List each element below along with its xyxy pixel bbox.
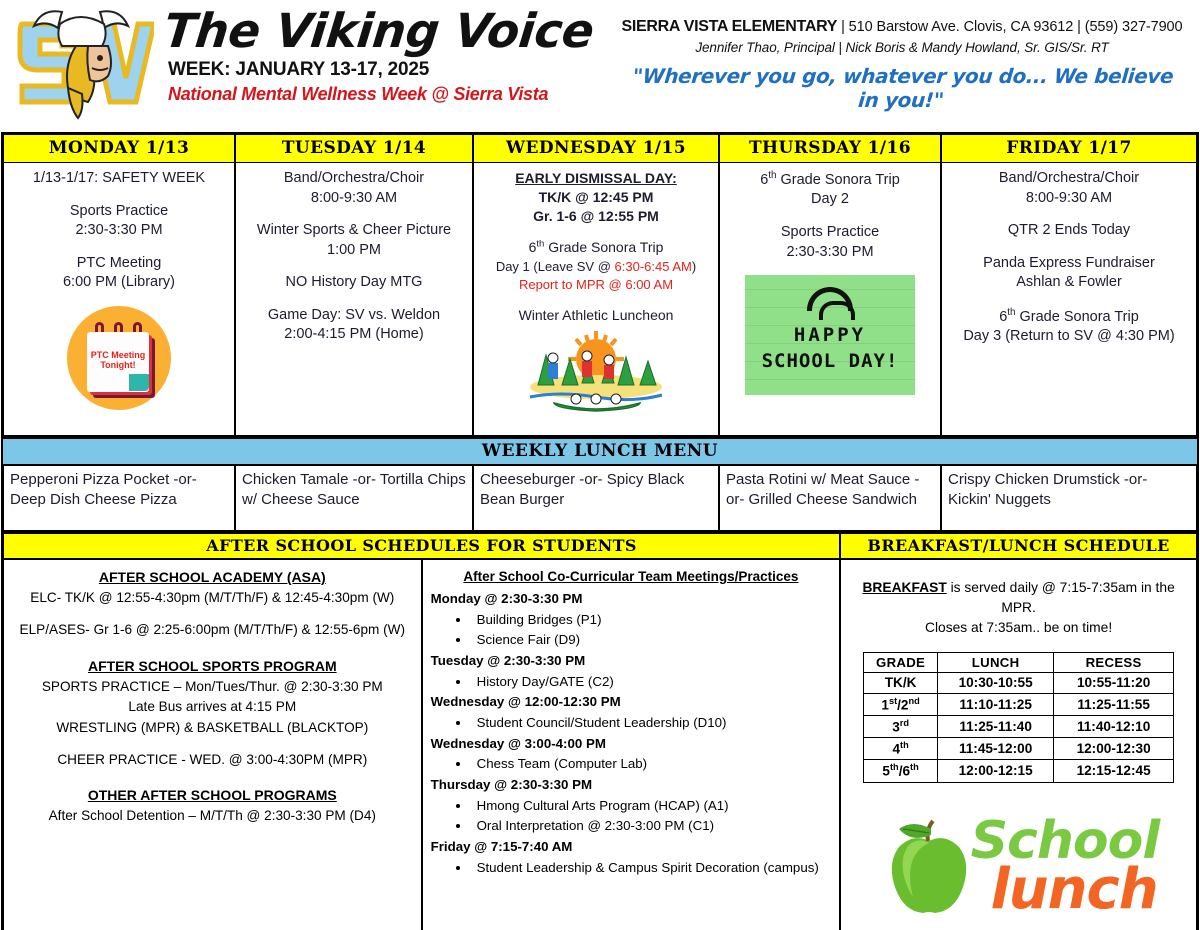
grade-sup: st (889, 696, 897, 706)
ptc-badge-line2: Tonight! (100, 360, 135, 370)
grade-num: 1 (881, 697, 889, 712)
day-cell-monday: 1/13-1/17: SAFETY WEEK Sports Practice 2… (3, 163, 235, 437)
fri-sonora-day: Day 3 (Return to SV @ 4:30 PM) (963, 328, 1174, 344)
grade-tail: /2 (897, 697, 908, 712)
grade-sup: th (900, 740, 909, 750)
weekly-lunch-menu-band: WEEKLY LUNCH MENU (3, 437, 1197, 466)
cocurricular-day-wednesday-noon: Wednesday @ 12:00-12:30 PM (431, 692, 832, 712)
thu-sonora-text: Grade Sonora Trip (776, 172, 899, 188)
wed-sonora-text: Grade Sonora Trip (544, 239, 663, 255)
tue-game-time: 2:00-4:15 PM (Home) (284, 326, 423, 342)
recess-cell: 11:25-11:55 (1054, 693, 1174, 715)
wed-athletic-luncheon: Winter Athletic Luncheon (479, 306, 713, 325)
after-school-band: AFTER SCHOOL SCHEDULES FOR STUDENTS (3, 532, 840, 560)
wellness-week-label: National Mental Wellness Week @ Sierra V… (168, 84, 620, 105)
lunch-cell: 11:25-11:40 (938, 716, 1054, 738)
breakfast-closes: Closes at 7:35am.. be on time! (925, 620, 1112, 635)
camp-canoe-illustration-svg (520, 329, 672, 413)
table-row: TK/K 10:30-10:55 10:55-11:20 (864, 673, 1174, 694)
cocurricular-list-wednesday-pm: Chess Team (Computer Lab) (453, 754, 832, 774)
list-item: Science Fair (D9) (471, 630, 832, 650)
thu-sonora-trip: 6th Grade Sonora Trip Day 2 (725, 169, 935, 210)
table-row: 3rd 11:25-11:40 11:40-12:10 (864, 716, 1174, 738)
day-header-friday: FRIDAY 1/17 (941, 134, 1197, 163)
sports-block: AFTER SCHOOL SPORTS PROGRAM SPORTS PRACT… (12, 656, 413, 771)
detention-line: After School Detention – M/T/Th @ 2:30-3… (12, 806, 413, 826)
list-item: Building Bridges (P1) (471, 610, 832, 630)
grade-cell: 3rd (864, 716, 938, 738)
day-header-thursday: THURSDAY 1/16 (719, 134, 941, 163)
thu-sports-label: Sports Practice (781, 224, 879, 240)
lunch-menu-wednesday: Cheeseburger -or- Spicy Black Bean Burge… (473, 466, 719, 532)
grade-num: 4 (892, 742, 900, 757)
table-row: 5th/6th 12:00-12:15 12:15-12:45 (864, 760, 1174, 782)
grade-sup2: th (910, 762, 919, 772)
bottom-panels-row: AFTER SCHOOL ACADEMY (ASA) ELC- TK/K @ 1… (3, 560, 1197, 930)
col-recess: RECESS (1054, 653, 1174, 673)
thu-sonora-day: Day 2 (811, 191, 849, 207)
viking-sv-logo-icon (4, 2, 154, 126)
mon-sports-practice: Sports Practice 2:30-3:30 PM (9, 202, 229, 241)
happy-school-day-icon: HAPPY SCHOOL DAY! (745, 275, 915, 395)
cheer-practice-line: CHEER PRACTICE - WED. @ 3:00-4:30PM (MPR… (12, 750, 413, 770)
cocurricular-list-friday: Student Leadership & Campus Spirit Decor… (453, 858, 832, 878)
list-item: Chess Team (Computer Lab) (471, 754, 832, 774)
thu-sports-time: 2:30-3:30 PM (786, 244, 873, 260)
wed-sonora-trip: 6th Grade Sonora Trip Day 1 (Leave SV @ … (479, 238, 713, 295)
sports-title: AFTER SCHOOL SPORTS PROGRAM (12, 656, 413, 677)
fri-band: Band/Orchestra/Choir 8:00-9:30 AM (947, 169, 1191, 208)
wed-sonora-day1-tail: ) (692, 259, 696, 274)
masthead-left: The Viking Voice WEEK: JANUARY 13-17, 20… (0, 2, 620, 132)
lunch-recess-table: GRADE LUNCH RECESS TK/K 10:30-10:55 10:5… (863, 652, 1174, 783)
day-header-row: MONDAY 1/13 TUESDAY 1/14 WEDNESDAY 1/15 … (3, 134, 1197, 163)
recess-cell: 11:40-12:10 (1054, 716, 1174, 738)
lunch-menu-tuesday: Chicken Tamale -or- Tortilla Chips w/ Ch… (235, 466, 473, 532)
wrestling-basketball-line: WRESTLING (MPR) & BASKETBALL (BLACKTOP) (12, 718, 413, 738)
fri-panda-label: Panda Express Fundraiser (983, 255, 1155, 271)
tue-band-time: 8:00-9:30 AM (311, 190, 397, 206)
day-content-row: 1/13-1/17: SAFETY WEEK Sports Practice 2… (3, 163, 1197, 437)
cocurricular-list-wednesday-noon: Student Council/Student Leadership (D10) (453, 713, 832, 733)
lunch-menu-friday: Crispy Chicken Drumstick -or- Kickin' Nu… (941, 466, 1197, 532)
mon-sports-label: Sports Practice (70, 203, 168, 219)
ptc-badge-line1: PTC Meeting (91, 350, 146, 360)
mon-sports-time: 2:30-3:30 PM (75, 222, 162, 238)
fri-band-time: 8:00-9:30 AM (1026, 190, 1112, 206)
late-bus-line: Late Bus arrives at 4:15 PM (12, 697, 413, 717)
cocurricular-day-thursday: Thursday @ 2:30-3:30 PM (431, 775, 832, 795)
fri-sonora-text: Grade Sonora Trip (1015, 309, 1138, 325)
list-item: Hmong Cultural Arts Program (HCAP) (A1) (471, 796, 832, 816)
camp-canoe-icon (520, 329, 672, 413)
wed-sonora-day1: Day 1 (Leave SV @ 6:30-6:45 AM) (496, 259, 696, 274)
masthead-right: SIERRA VISTA ELEMENTARY | 510 Barstow Av… (620, 2, 1200, 132)
fri-sonora-trip: 6th Grade Sonora Trip Day 3 (Return to S… (947, 306, 1191, 347)
day-cell-wednesday: EARLY DISMISSAL DAY: TK/K @ 12:45 PM Gr.… (473, 163, 719, 437)
list-item: Student Council/Student Leadership (D10) (471, 713, 832, 733)
other-programs-block: OTHER AFTER SCHOOL PROGRAMS After School… (12, 785, 413, 826)
school-lunch-word2: lunch (991, 857, 1158, 922)
cocurricular-day-wednesday-pm: Wednesday @ 3:00-4:00 PM (431, 734, 832, 754)
cocurricular-title: After School Co-Curricular Team Meetings… (431, 567, 832, 587)
school-logo (4, 2, 154, 126)
fri-qtr-end: QTR 2 Ends Today (947, 221, 1191, 241)
school-lunch-logo-icon: School lunch (879, 809, 1159, 927)
cocurricular-list-tuesday: History Day/GATE (C2) (453, 672, 832, 692)
ptc-meeting-badge-icon: PTC Meeting Tonight! (67, 306, 171, 410)
grade-sup2: nd (909, 696, 920, 706)
breakfast-lunch-panel: BREAKFAST is served daily @ 7:15-7:35am … (840, 560, 1197, 930)
mon-ptc-meeting: PTC Meeting 6:00 PM (Library) (9, 254, 229, 293)
cocurricular-panel: After School Co-Curricular Team Meetings… (422, 560, 841, 930)
section-band-row: AFTER SCHOOL SCHEDULES FOR STUDENTS BREA… (3, 532, 1197, 560)
wed-report-mpr: Report to MPR @ 6:00 AM (519, 277, 673, 292)
principal-line: Jennifer Thao, Principal | Nick Boris & … (620, 38, 1184, 58)
ptc-badge-text: PTC Meeting Tonight! (89, 350, 147, 371)
table-row: 4th 11:45-12:00 12:00-12:30 (864, 738, 1174, 760)
lunch-cell: 10:30-10:55 (938, 673, 1054, 694)
lunch-cell: 12:00-12:15 (938, 760, 1054, 782)
breakfast-keyword: BREAKFAST (862, 580, 946, 595)
happy-card-line1: HAPPY (745, 323, 915, 349)
lunch-cell: 11:45-12:00 (938, 738, 1054, 760)
lunch-menu-row: Pepperoni Pizza Pocket -or- Deep Dish Ch… (3, 466, 1197, 532)
list-item: Student Leadership & Campus Spirit Decor… (471, 858, 832, 878)
after-school-academy-panel: AFTER SCHOOL ACADEMY (ASA) ELC- TK/K @ 1… (3, 560, 422, 930)
thu-sports-practice: Sports Practice 2:30-3:30 PM (725, 223, 935, 262)
breakfast-rest: is served daily @ 7:15-7:35am in the MPR… (947, 580, 1175, 615)
masthead: The Viking Voice WEEK: JANUARY 13-17, 20… (0, 0, 1200, 132)
day-header-monday: MONDAY 1/13 (3, 134, 235, 163)
tue-band-label: Band/Orchestra/Choir (284, 170, 424, 186)
rainbow-icon (807, 287, 853, 311)
school-address: | 510 Barstow Ave. Clovis, CA 93612 | (5… (841, 19, 1182, 35)
recess-cell: 10:55-11:20 (1054, 673, 1174, 694)
tue-no-history-day: NO History Day MTG (241, 273, 467, 293)
cocurricular-list-monday: Building Bridges (P1) Science Fair (D9) (453, 610, 832, 650)
grade-cell: 1st/2nd (864, 693, 938, 715)
tue-picture: Winter Sports & Cheer Picture 1:00 PM (241, 221, 467, 260)
mon-safety-week: 1/13-1/17: SAFETY WEEK (9, 169, 229, 189)
day-cell-thursday: 6th Grade Sonora Trip Day 2 Sports Pract… (719, 163, 941, 437)
asa-block: AFTER SCHOOL ACADEMY (ASA) ELC- TK/K @ 1… (12, 567, 413, 641)
day-cell-tuesday: Band/Orchestra/Choir 8:00-9:30 AM Winter… (235, 163, 473, 437)
grade-cell: 4th (864, 738, 938, 760)
table-header-row: GRADE LUNCH RECESS (864, 653, 1174, 673)
table-row: 1st/2nd 11:10-11:25 11:25-11:55 (864, 693, 1174, 715)
lunch-cell: 11:10-11:25 (938, 693, 1054, 715)
breakfast-info: BREAKFAST is served daily @ 7:15-7:35am … (853, 578, 1184, 638)
happy-card-line2: SCHOOL DAY! (745, 349, 915, 375)
newsletter-grid: MONDAY 1/13 TUESDAY 1/14 WEDNESDAY 1/15 … (1, 132, 1199, 930)
green-apple-icon (879, 817, 979, 927)
grade-cell: TK/K (864, 673, 938, 694)
fri-panda-locations: Ashlan & Fowler (1016, 274, 1122, 290)
breakfast-lunch-band: BREAKFAST/LUNCH SCHEDULE (840, 532, 1197, 560)
newsletter-title: The Viking Voice (162, 8, 623, 55)
cocurricular-day-monday: Monday @ 2:30-3:30 PM (431, 589, 832, 609)
cocurricular-day-tuesday: Tuesday @ 2:30-3:30 PM (431, 651, 832, 671)
wed-sonora-day1-black: Day 1 (Leave SV @ (496, 259, 615, 274)
tue-picture-label: Winter Sports & Cheer Picture (257, 222, 451, 238)
grade-cell: 5th/6th (864, 760, 938, 782)
grade-sup: rd (900, 718, 909, 728)
day-cell-friday: Band/Orchestra/Choir 8:00-9:30 AM QTR 2 … (941, 163, 1197, 437)
school-motto: "Wherever you go, whatever you do... We … (618, 64, 1186, 112)
day-header-tuesday: TUESDAY 1/14 (235, 134, 473, 163)
school-name: SIERRA VISTA ELEMENTARY (622, 18, 838, 35)
asa-title: AFTER SCHOOL ACADEMY (ASA) (12, 567, 413, 588)
cocurricular-day-friday: Friday @ 7:15-7:40 AM (431, 837, 832, 857)
lunch-menu-thursday: Pasta Rotini w/ Meat Sauce -or- Grilled … (719, 466, 941, 532)
grade-sup: th (890, 762, 899, 772)
other-programs-title: OTHER AFTER SCHOOL PROGRAMS (12, 785, 413, 806)
wed-dismissal-gr16: Gr. 1-6 @ 12:55 PM (533, 208, 659, 224)
col-lunch: LUNCH (938, 653, 1054, 673)
cocurricular-list-thursday: Hmong Cultural Arts Program (HCAP) (A1) … (453, 796, 832, 836)
asa-elc-line: ELC- TK/K @ 12:55-4:30pm (M/T/Th/F) & 12… (12, 588, 413, 608)
tue-picture-time: 1:00 PM (327, 242, 381, 258)
col-grade: GRADE (864, 653, 938, 673)
list-item: History Day/GATE (C2) (471, 672, 832, 692)
day-header-wednesday: WEDNESDAY 1/15 (473, 134, 719, 163)
tue-band: Band/Orchestra/Choir 8:00-9:30 AM (241, 169, 467, 208)
grade-tail: /6 (899, 764, 910, 779)
wed-dismissal-tkk: TK/K @ 12:45 PM (539, 189, 654, 205)
asa-elp-line: ELP/ASES- Gr 1-6 @ 2:25-6:00pm (M/T/Th/F… (12, 620, 413, 640)
wed-sonora-day1-red: 6:30-6:45 AM (615, 259, 692, 274)
grade-num: 5 (882, 764, 890, 779)
week-label: WEEK: JANUARY 13-17, 2025 (168, 59, 620, 81)
wed-early-dismissal-title: EARLY DISMISSAL DAY: (515, 170, 677, 186)
wed-early-dismissal: EARLY DISMISSAL DAY: TK/K @ 12:45 PM Gr.… (479, 169, 713, 226)
sports-practice-line: SPORTS PRACTICE – Mon/Tues/Thur. @ 2:30-… (12, 677, 413, 697)
mon-ptc-time: 6:00 PM (Library) (63, 274, 175, 290)
recess-cell: 12:15-12:45 (1054, 760, 1174, 782)
tue-game-label: Game Day: SV vs. Weldon (268, 307, 440, 323)
school-info-line: SIERRA VISTA ELEMENTARY | 510 Barstow Av… (620, 16, 1184, 38)
fri-band-label: Band/Orchestra/Choir (999, 170, 1139, 186)
tue-game-day: Game Day: SV vs. Weldon 2:00-4:15 PM (Ho… (241, 306, 467, 345)
fri-panda-fundraiser: Panda Express Fundraiser Ashlan & Fowler (947, 254, 1191, 293)
mon-ptc-label: PTC Meeting (77, 255, 162, 271)
newsletter-page: The Viking Voice WEEK: JANUARY 13-17, 20… (0, 0, 1200, 930)
grade-num: 3 (892, 720, 900, 735)
lunch-menu-monday: Pepperoni Pizza Pocket -or- Deep Dish Ch… (3, 466, 235, 532)
list-item: Oral Interpretation @ 2:30-3:00 PM (C1) (471, 816, 832, 836)
recess-cell: 12:00-12:30 (1054, 738, 1174, 760)
